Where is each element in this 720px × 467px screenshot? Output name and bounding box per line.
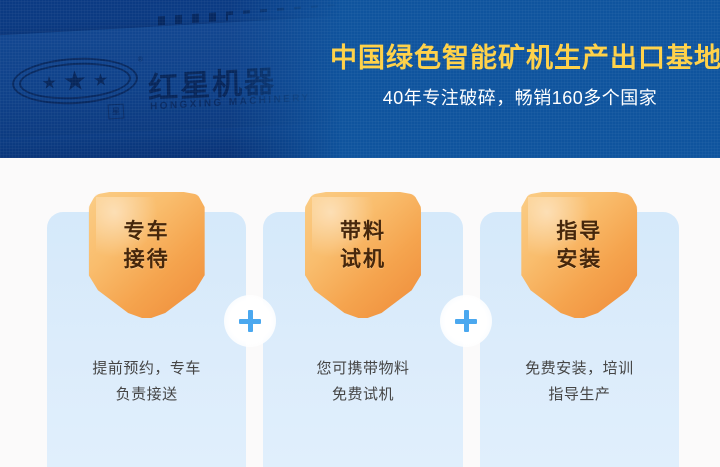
shield-label-1: 专车 接待 <box>89 192 205 318</box>
service-desc-3: 免费安装，培训 指导生产 <box>480 356 679 409</box>
service-desc-line2: 指导生产 <box>480 382 679 408</box>
plus-connector-1 <box>224 295 276 347</box>
shield-label-3: 指导 安装 <box>521 192 637 318</box>
service-card-1[interactable]: 专车 接待 提前预约，专车 负责接送 <box>47 212 246 467</box>
shield-label-line1: 带料 <box>340 218 386 246</box>
plus-icon <box>239 310 261 332</box>
service-card-3[interactable]: 指导 安装 免费安装，培训 指导生产 <box>480 212 679 467</box>
service-desc-line1: 提前预约，专车 <box>92 360 201 377</box>
shield-badge-1: 专车 接待 <box>89 192 205 318</box>
plus-icon <box>455 310 477 332</box>
shield-label-line2: 安装 <box>556 246 602 274</box>
service-desc-line1: 免费安装，培训 <box>525 360 634 377</box>
banner-title: 中国绿色智能矿机生产出口基地 <box>330 44 710 74</box>
shield-label-2: 带料 试机 <box>305 192 421 318</box>
service-card-2[interactable]: 带料 试机 您可携带物料 免费试机 <box>263 212 462 467</box>
plus-connector-2 <box>440 295 492 347</box>
shield-label-line2: 试机 <box>340 246 386 274</box>
banner-copy: 中国绿色智能矿机生产出口基地 40年专注破碎，畅销160多个国家 <box>330 44 710 109</box>
shield-badge-3: 指导 安装 <box>521 192 637 318</box>
shield-label-line1: 专车 <box>124 218 170 246</box>
service-desc-line2: 免费试机 <box>263 382 462 408</box>
banner-subtitle: 40年专注破碎，畅销160多个国家 <box>330 88 710 110</box>
service-desc-1: 提前预约，专车 负责接送 <box>47 356 246 409</box>
service-desc-line1: 您可携带物料 <box>316 360 409 377</box>
shield-label-line2: 接待 <box>124 246 170 274</box>
shield-label-line1: 指导 <box>556 218 602 246</box>
service-desc-2: 您可携带物料 免费试机 <box>263 356 462 409</box>
service-desc-line2: 负责接送 <box>47 382 246 408</box>
service-cards: 专车 接待 提前预约，专车 负责接送 带料 试机 您可携带物料 免费试 <box>47 212 679 467</box>
promo-page: ★ ★ ★ ® 红星机器 HONGXING MACHINERY 星 中国绿色智能… <box>0 0 720 467</box>
hero-banner: ★ ★ ★ ® 红星机器 HONGXING MACHINERY 星 中国绿色智能… <box>0 0 720 158</box>
shield-badge-2: 带料 试机 <box>305 192 421 318</box>
